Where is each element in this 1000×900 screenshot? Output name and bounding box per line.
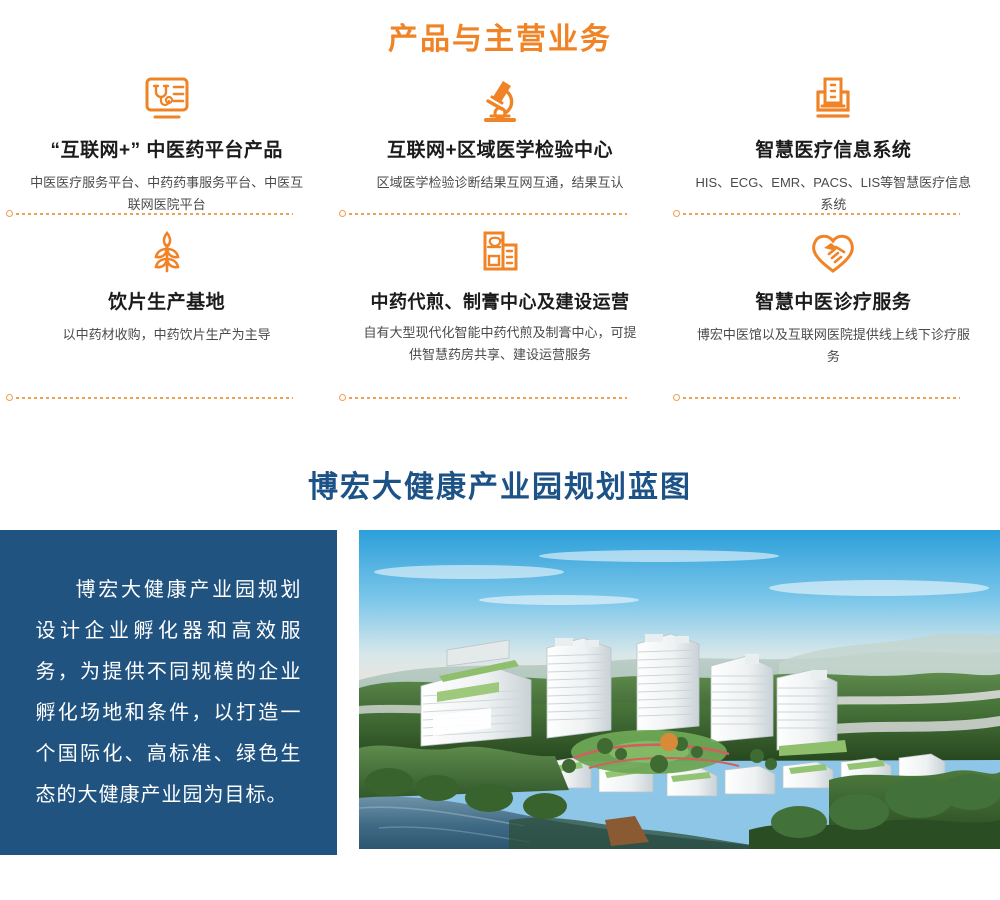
divider-line — [16, 397, 293, 399]
divider-line — [16, 213, 293, 215]
products-grid: “互联网+” 中医药平台产品 中医医疗服务平台、中药药事服务平台、中医互联网医院… — [0, 72, 1000, 412]
card-divider — [671, 210, 960, 218]
divider-dot — [6, 394, 13, 401]
handshake-heart-icon — [689, 224, 978, 282]
blueprint-body: 博宏大健康产业园规划设计企业孵化器和高效服务，为提供不同规模的企业孵化场地和条件… — [0, 530, 1000, 855]
product-card-title: 智慧中医诊疗服务 — [689, 290, 978, 317]
product-card-2[interactable]: 互联网+区域医学检验中心 区域医学检验诊断结果互网互通，结果互认 — [333, 72, 666, 224]
product-card-1[interactable]: “互联网+” 中医药平台产品 中医医疗服务平台、中药药事服务平台、中医互联网医院… — [0, 72, 333, 224]
product-card-title: 互联网+区域医学检验中心 — [355, 138, 644, 165]
wheat-plant-icon — [22, 224, 311, 282]
product-card-title: 饮片生产基地 — [22, 290, 311, 317]
card-divider — [337, 394, 626, 402]
product-card-4[interactable]: 饮片生产基地 以中药材收购，中药饮片生产为主导 — [0, 224, 333, 412]
divider-dot — [673, 210, 680, 217]
hospital-building-icon — [689, 72, 978, 130]
blueprint-text-panel: 博宏大健康产业园规划设计企业孵化器和高效服务，为提供不同规模的企业孵化场地和条件… — [0, 530, 337, 855]
product-card-desc: 区域医学检验诊断结果互网互通，结果互认 — [355, 172, 644, 194]
product-card-3[interactable]: 智慧医疗信息系统 HIS、ECG、EMR、PACS、LIS等智慧医疗信息系统 — [667, 72, 1000, 224]
card-divider — [337, 210, 626, 218]
blueprint-section-title: 博宏大健康产业园规划蓝图 — [0, 462, 1000, 506]
page-root: 产品与主营业务 “互联网+” 中医药平台产品 中医医疗服务平台、 — [0, 0, 1000, 900]
card-divider — [4, 210, 293, 218]
divider-line — [683, 213, 960, 215]
card-divider — [671, 394, 960, 402]
blueprint-paragraph: 博宏大健康产业园规划设计企业孵化器和高效服务，为提供不同规模的企业孵化场地和条件… — [36, 570, 302, 816]
blueprint-section: 博宏大健康产业园规划蓝图 博宏大健康产业园规划设计企业孵化器和高效服务，为提供不… — [0, 462, 1000, 855]
divider-line — [349, 397, 626, 399]
product-card-desc: 自有大型现代化智能中药代煎及制膏中心，可提供智慧药房共享、建设运营服务 — [355, 322, 644, 366]
divider-dot — [339, 210, 346, 217]
product-card-title: 智慧医疗信息系统 — [689, 138, 978, 165]
product-card-desc: 博宏中医馆以及互联网医院提供线上线下诊疗服务 — [689, 324, 978, 368]
factory-teapot-icon — [355, 224, 644, 282]
card-divider — [4, 394, 293, 402]
product-card-title: “互联网+” 中医药平台产品 — [22, 138, 311, 165]
products-section-title: 产品与主营业务 — [0, 0, 1000, 58]
divider-line — [349, 213, 626, 215]
divider-line — [683, 397, 960, 399]
product-card-6[interactable]: 智慧中医诊疗服务 博宏中医馆以及互联网医院提供线上线下诊疗服务 — [667, 224, 1000, 412]
monitor-stethoscope-icon — [22, 72, 311, 130]
product-card-title: 中药代煎、制膏中心及建设运营 — [355, 290, 644, 315]
microscope-icon — [355, 72, 644, 130]
divider-dot — [673, 394, 680, 401]
product-card-desc: 以中药材收购，中药饮片生产为主导 — [22, 324, 311, 346]
products-section: 产品与主营业务 “互联网+” 中医药平台产品 中医医疗服务平台、 — [0, 0, 1000, 412]
product-card-5[interactable]: 中药代煎、制膏中心及建设运营 自有大型现代化智能中药代煎及制膏中心，可提供智慧药… — [333, 224, 666, 412]
blueprint-rendering-image — [359, 530, 1000, 849]
divider-dot — [339, 394, 346, 401]
divider-dot — [6, 210, 13, 217]
